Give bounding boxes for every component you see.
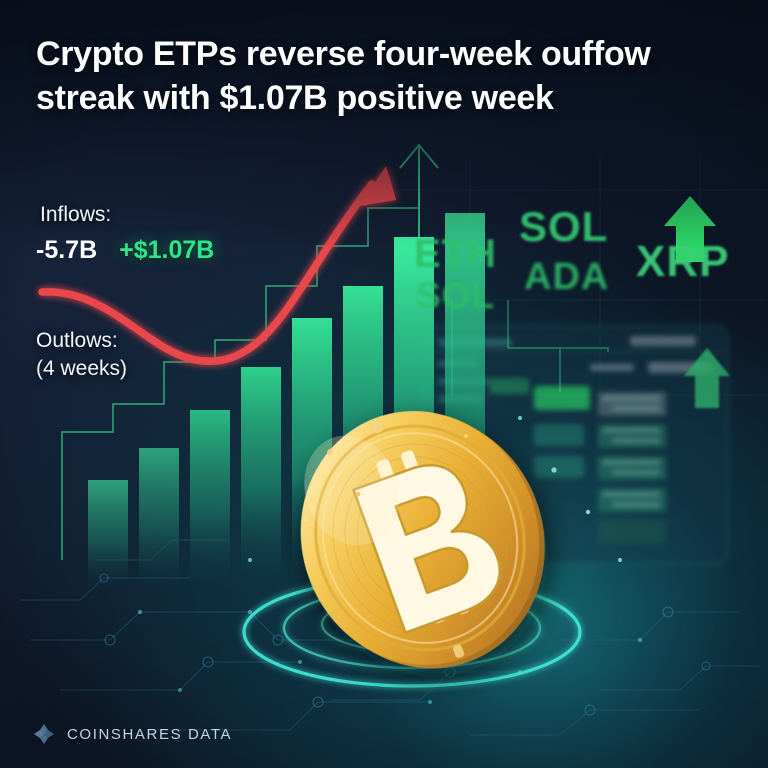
outflow-value: -5.7B (36, 236, 97, 265)
infographic-canvas: ETH SOL SOL ADA XRP Crypto ETPs reverse … (0, 0, 768, 768)
coinshares-diamond-icon (32, 722, 56, 746)
brand-logo: COINSHARES DATA (32, 722, 232, 746)
inflow-value: +$1.07B (119, 236, 214, 265)
ticker-label-xrp: XRP (636, 237, 729, 287)
page-title: Crypto ETPs reverse four-week ouffow str… (36, 32, 726, 120)
ticker-label-sol-lower: SOL (416, 275, 495, 317)
outflows-period: (4 weeks) (36, 355, 127, 383)
outflows-label: Outlows: (36, 327, 127, 355)
ticker-label-ada: ADA (524, 256, 609, 299)
brand-name: COINSHARES DATA (67, 726, 232, 743)
inflows-label: Inflows: (40, 203, 111, 227)
flow-values-row: -5.7B +$1.07B (36, 236, 214, 265)
outflows-annotation: Outlows: (4 weeks) (36, 327, 127, 383)
ticker-label-eth: ETH (414, 232, 497, 277)
ticker-label-sol-upper: SOL (519, 203, 608, 251)
